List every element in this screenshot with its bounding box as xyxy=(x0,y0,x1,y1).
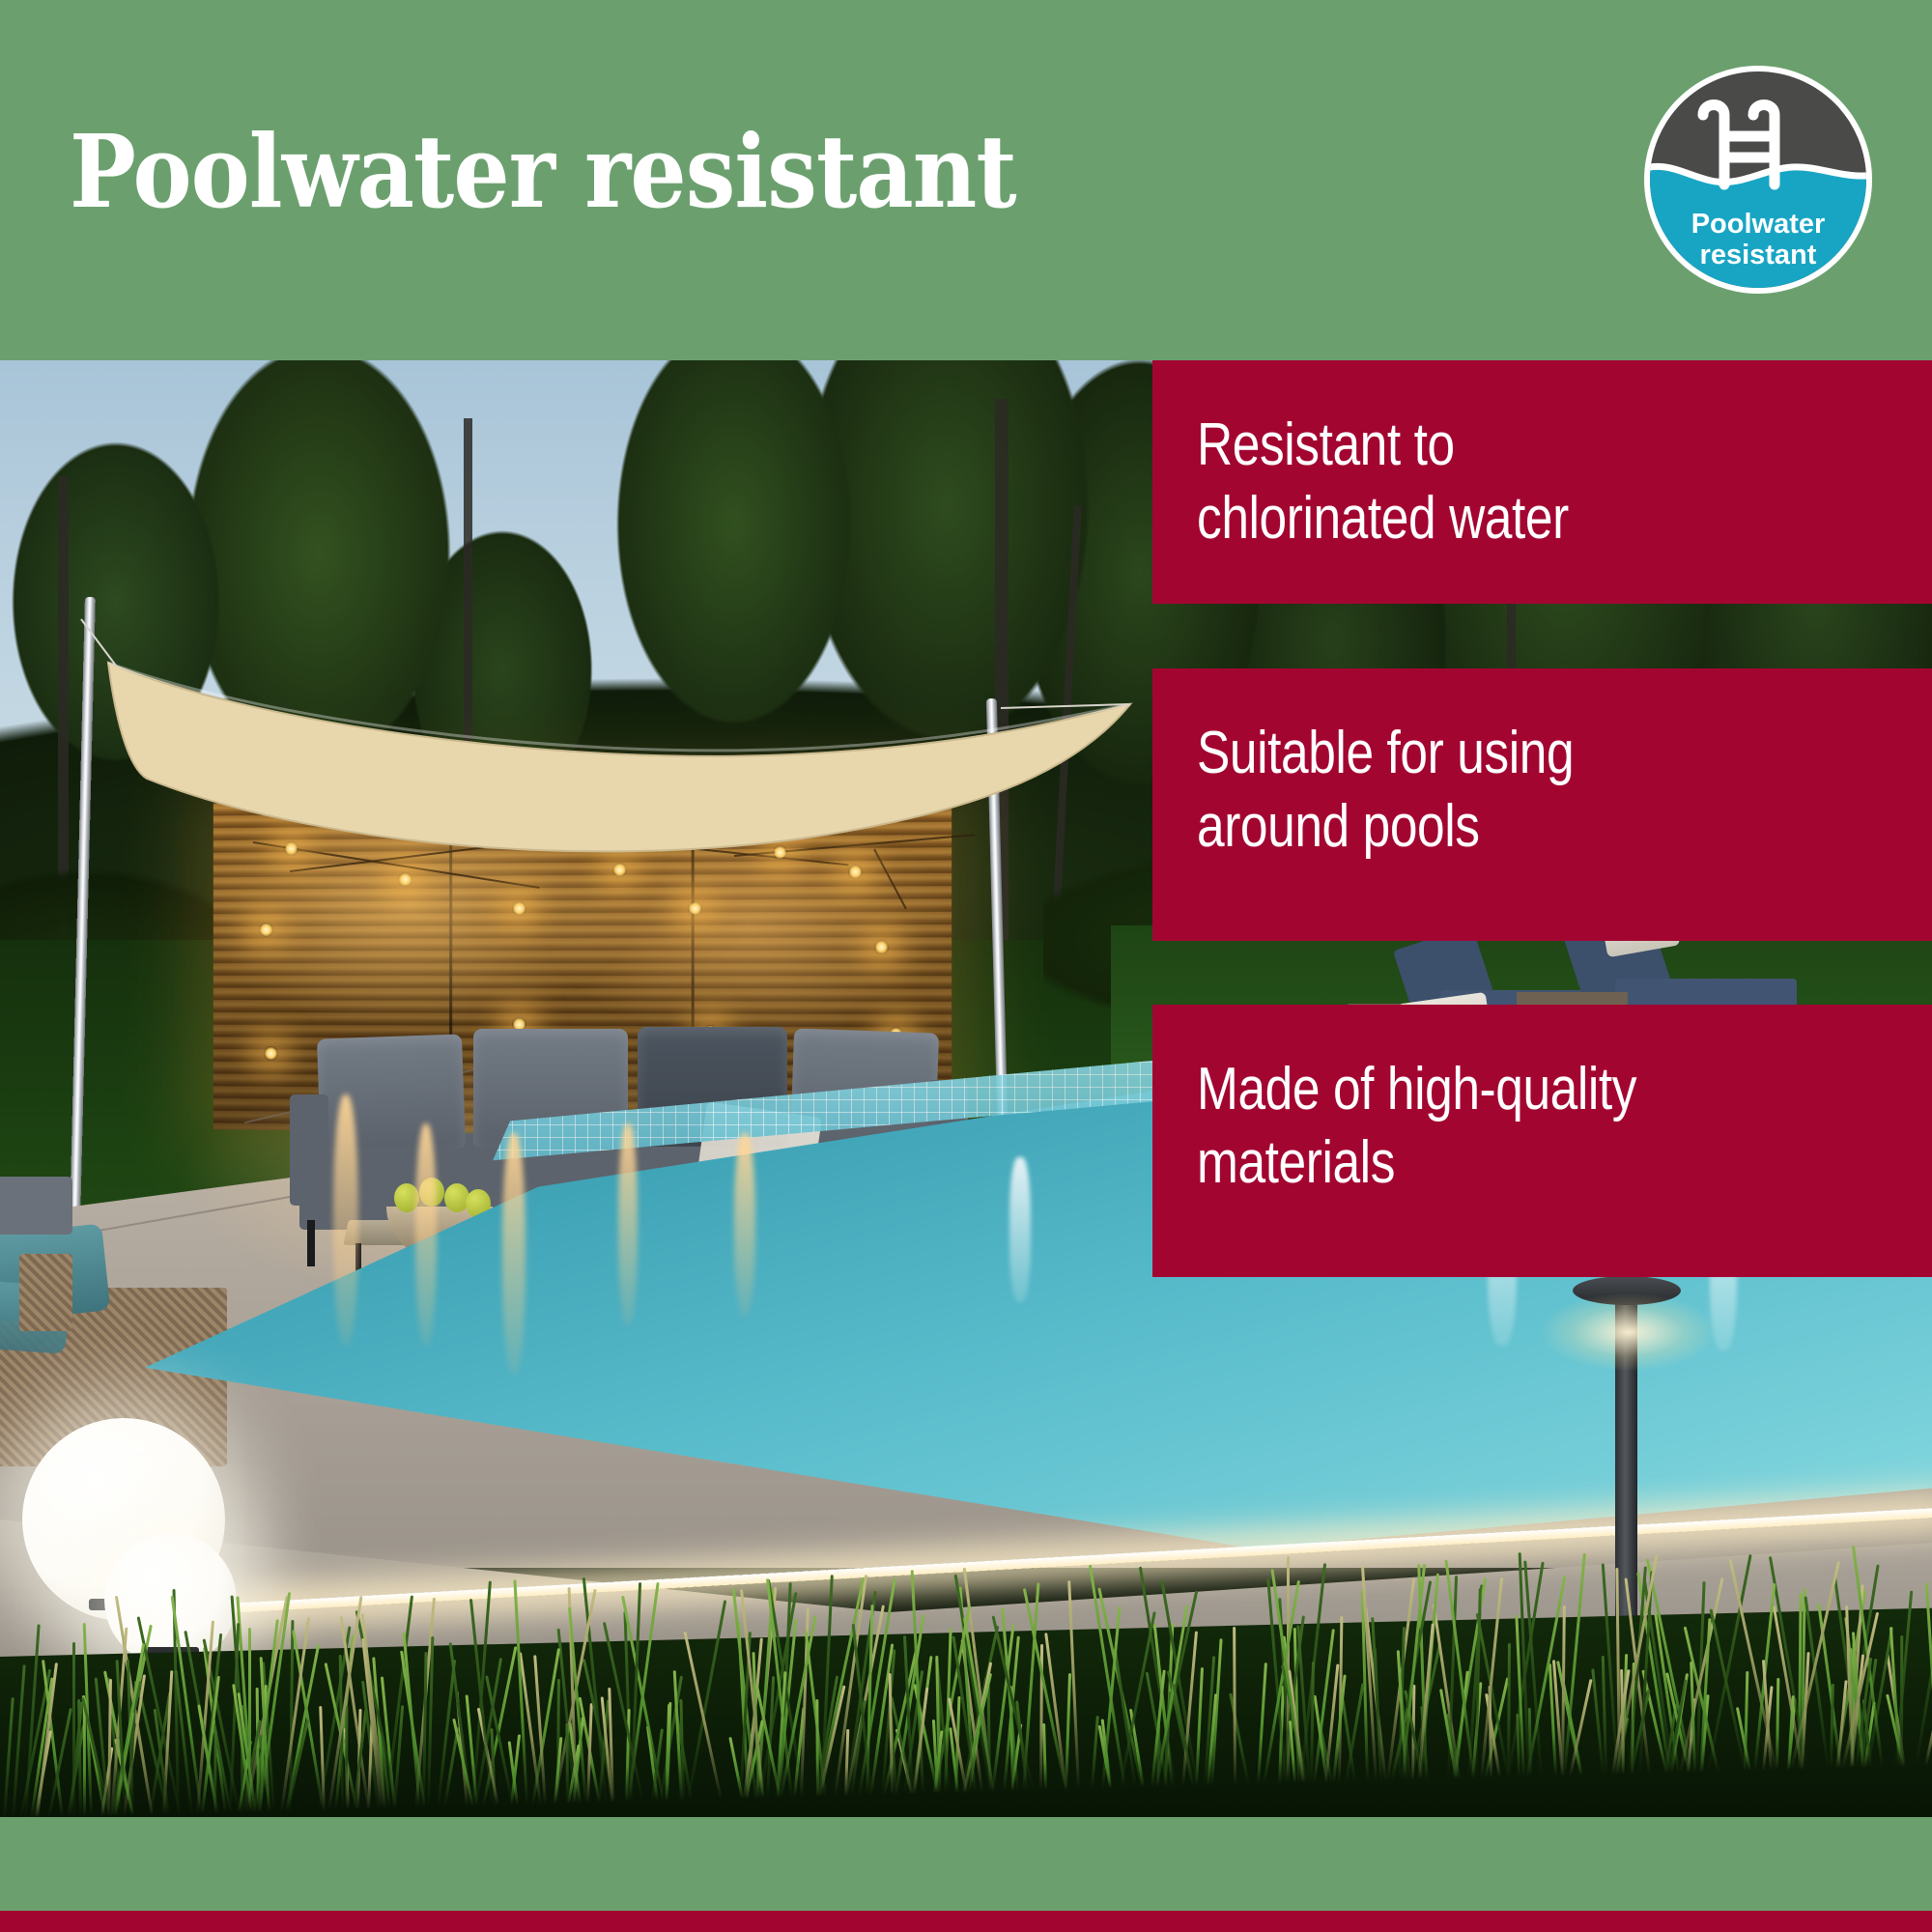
feature-box-3: Made of high-quality materials xyxy=(1152,1005,1932,1277)
grey-armchair xyxy=(0,1177,72,1235)
water-reflection xyxy=(734,1133,755,1317)
water-reflection xyxy=(1009,1157,1031,1302)
fairy-light xyxy=(398,872,412,887)
feature-box-1: Resistant to chlorinated water xyxy=(1152,360,1932,604)
fairy-light xyxy=(512,901,526,916)
water-reflection xyxy=(333,1094,358,1346)
fairy-light xyxy=(284,841,298,856)
fairy-light xyxy=(848,865,863,879)
feature-text-2: Suitable for using around pools xyxy=(1197,717,1770,863)
fairy-light xyxy=(612,863,627,877)
page-title: Poolwater resistant xyxy=(70,122,1016,222)
footer-red-band xyxy=(0,1911,1932,1932)
fairy-light xyxy=(688,901,702,916)
wicker-armrest xyxy=(19,1254,72,1331)
water-reflection xyxy=(618,1123,638,1326)
poolwater-resistant-badge: Poolwater resistant xyxy=(1639,61,1877,298)
badge-line-2: resistant xyxy=(1700,240,1817,270)
feature-text-1: Resistant to chlorinated water xyxy=(1197,409,1770,554)
grass-blades xyxy=(0,1529,1932,1817)
feature-box-2: Suitable for using around pools xyxy=(1152,668,1932,941)
feature-text-3: Made of high-quality materials xyxy=(1197,1053,1770,1199)
fairy-light xyxy=(773,845,787,860)
footer-green-band xyxy=(0,1817,1932,1911)
fairy-light xyxy=(259,923,273,937)
water-reflection xyxy=(415,1123,437,1346)
fairy-light xyxy=(874,940,889,954)
header-banner: Poolwater resistant Poolwater resistant xyxy=(0,0,1932,360)
badge-line-1: Poolwater xyxy=(1691,209,1826,240)
water-reflection xyxy=(502,1133,526,1375)
